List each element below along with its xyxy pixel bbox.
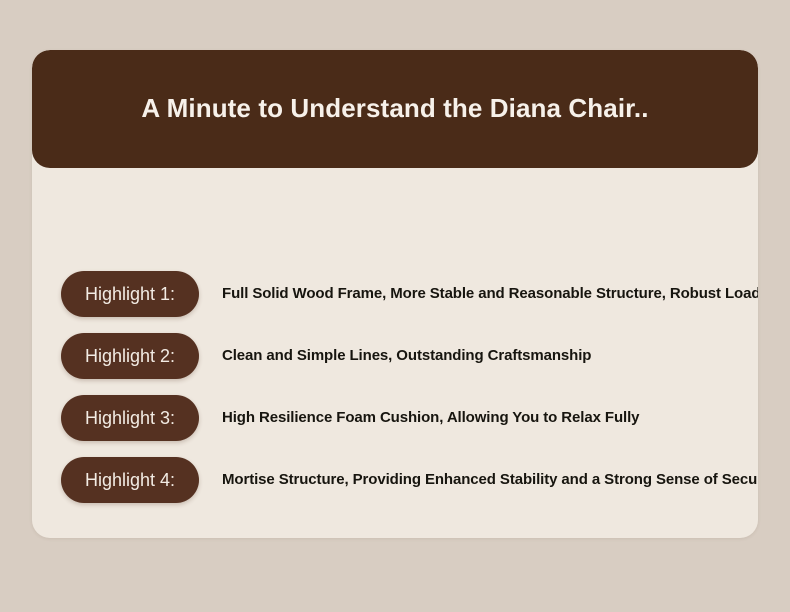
highlight-list: Highlight 1: Full Solid Wood Frame, More… — [32, 168, 758, 519]
highlight-badge-2: Highlight 2: — [61, 333, 199, 379]
highlight-description: Full Solid Wood Frame, More Stable and R… — [222, 285, 758, 304]
highlight-badge-label: Highlight 4: — [85, 471, 175, 489]
highlight-card: A Minute to Understand the Diana Chair..… — [32, 50, 758, 538]
highlight-badge-label: Highlight 2: — [85, 347, 175, 365]
highlight-row: Highlight 2: Clean and Simple Lines, Out… — [32, 333, 758, 379]
highlight-badge-1: Highlight 1: — [61, 271, 199, 317]
highlight-badge-label: Highlight 3: — [85, 409, 175, 427]
highlight-row: Highlight 1: Full Solid Wood Frame, More… — [32, 271, 758, 317]
highlight-description: Mortise Structure, Providing Enhanced St… — [222, 471, 758, 490]
page-canvas: A Minute to Understand the Diana Chair..… — [0, 0, 790, 612]
highlight-row: Highlight 4: Mortise Structure, Providin… — [32, 457, 758, 503]
highlight-badge-label: Highlight 1: — [85, 285, 175, 303]
page-title: A Minute to Understand the Diana Chair.. — [141, 93, 648, 124]
highlight-badge-3: Highlight 3: — [61, 395, 199, 441]
highlight-badge-4: Highlight 4: — [61, 457, 199, 503]
highlight-description: High Resilience Foam Cushion, Allowing Y… — [222, 409, 758, 428]
card-header-banner: A Minute to Understand the Diana Chair.. — [32, 50, 758, 168]
highlight-row: Highlight 3: High Resilience Foam Cushio… — [32, 395, 758, 441]
highlight-description: Clean and Simple Lines, Outstanding Craf… — [222, 347, 758, 366]
